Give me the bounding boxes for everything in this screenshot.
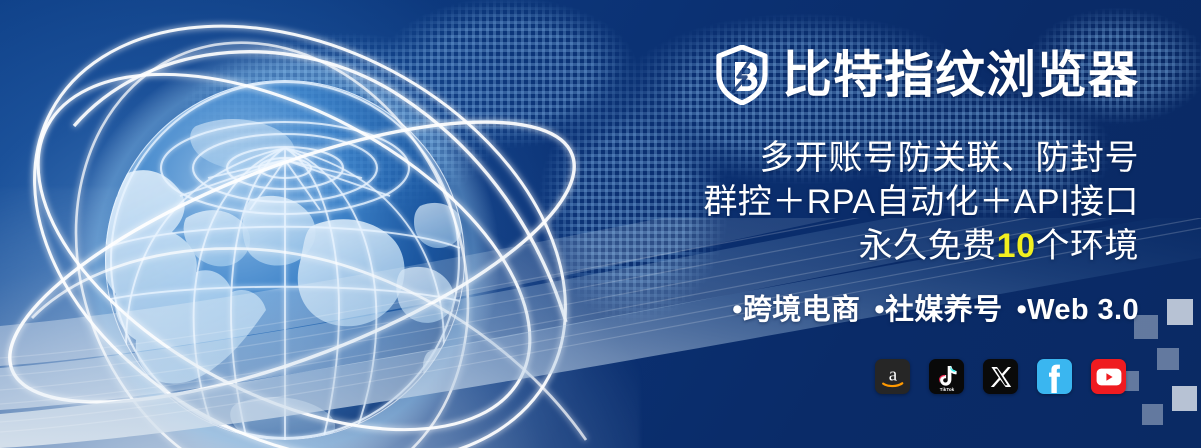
promo-banner: 比特指纹浏览器 多开账号防关联、防封号 群控＋RPA自动化＋API接口 永久免费… [0,0,1201,448]
social-icon-facebook[interactable] [1037,359,1072,394]
keyword-cross-border: •跨境电商 [732,290,860,330]
decorative-square [1142,404,1163,425]
decorative-square [1157,348,1179,370]
shield-b-logo-icon [716,45,768,105]
tagline-list: 多开账号防关联、防封号 群控＋RPA自动化＋API接口 永久免费10个环境 [669,136,1139,268]
decorative-square [1167,299,1193,325]
tagline-3-prefix: 永久免费 [859,227,997,265]
svg-text:TikTok: TikTok [939,387,954,392]
svg-text:a: a [888,364,897,385]
social-icon-tiktok[interactable]: TikTok [929,359,964,394]
tagline-3-suffix: 个环境 [1036,227,1140,265]
tagline-1: 多开账号防关联、防封号 [669,136,1139,180]
social-icon-youtube[interactable] [1091,359,1126,394]
keyword-web3: •Web 3.0 [1017,290,1139,330]
tagline-3: 永久免费10个环境 [669,224,1139,268]
tagline-3-highlight: 10 [997,227,1036,265]
decorative-square [1172,386,1197,411]
social-icon-amazon[interactable]: a [875,359,910,394]
social-icon-row: a TikTok [875,359,1126,394]
social-icon-x-twitter[interactable] [983,359,1018,394]
keyword-social-media: •社媒养号 [874,290,1002,330]
brand-row: 比特指纹浏览器 [669,42,1139,108]
tagline-2: 群控＋RPA自动化＋API接口 [669,180,1139,224]
brand-title: 比特指纹浏览器 [782,45,1139,105]
keyword-list: •跨境电商•社媒养号•Web 3.0 [669,290,1139,330]
